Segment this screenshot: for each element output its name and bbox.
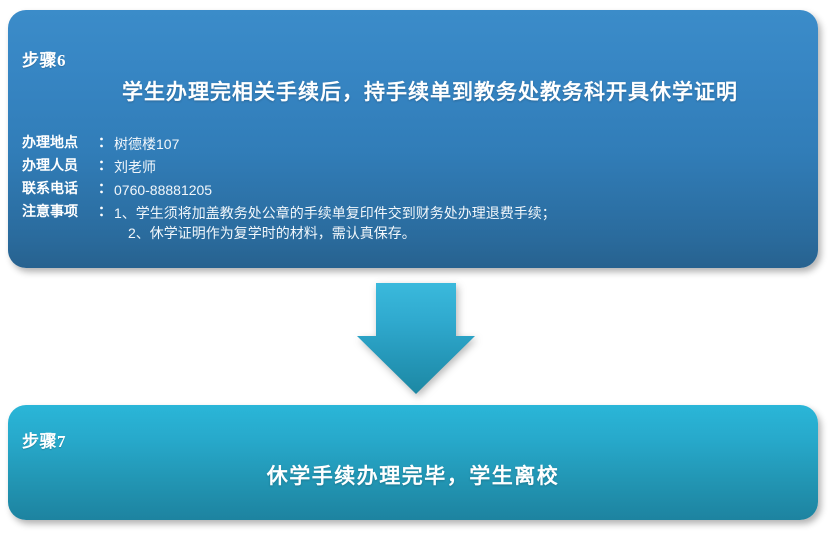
step-card-step7: 步骤7 休学手续办理完毕，学生离校: [8, 405, 818, 520]
step-title-step6: 学生办理完相关手续后，持手续单到教务处教务科开具休学证明: [122, 76, 738, 106]
note-line-2: 2、休学证明作为复学时的材料，需认真保存。: [114, 223, 802, 243]
detail-label-notes: 注意事项: [22, 203, 98, 223]
detail-colon-staff: ：: [98, 157, 114, 177]
detail-row-location: 办理地点 ： 树德楼107: [22, 134, 802, 154]
step6-details: 办理地点 ： 树德楼107 办理人员 ： 刘老师 联系电话 ： 0760-888…: [22, 134, 802, 246]
detail-value-notes: 1、学生须将加盖教务处公章的手续单复印件交到财务处办理退费手续； 2、休学证明作…: [114, 203, 802, 243]
detail-value-location: 树德楼107: [114, 134, 802, 154]
detail-colon-notes: ：: [98, 203, 114, 223]
step-card-step6: 步骤6 学生办理完相关手续后，持手续单到教务处教务科开具休学证明 办理地点 ： …: [8, 10, 818, 268]
step-title-step7: 休学手续办理完毕，学生离校: [8, 460, 818, 490]
detail-row-notes: 注意事项 ： 1、学生须将加盖教务处公章的手续单复印件交到财务处办理退费手续； …: [22, 203, 802, 243]
flowchart-canvas: 步骤6 学生办理完相关手续后，持手续单到教务处教务科开具休学证明 办理地点 ： …: [0, 0, 828, 536]
step-label-step6: 步骤6: [22, 46, 66, 71]
detail-row-phone: 联系电话 ： 0760-88881205: [22, 180, 802, 200]
detail-value-phone: 0760-88881205: [114, 180, 802, 200]
detail-label-phone: 联系电话: [22, 180, 98, 200]
detail-colon-phone: ：: [98, 180, 114, 200]
note-line-1: 1、学生须将加盖教务处公章的手续单复印件交到财务处办理退费手续；: [114, 203, 802, 223]
detail-colon-location: ：: [98, 134, 114, 154]
detail-label-staff: 办理人员: [22, 157, 98, 177]
detail-row-staff: 办理人员 ： 刘老师: [22, 157, 802, 177]
down-arrow-icon: [355, 283, 477, 395]
step-label-step7: 步骤7: [22, 427, 66, 452]
detail-label-location: 办理地点: [22, 134, 98, 154]
detail-value-staff: 刘老师: [114, 157, 802, 177]
